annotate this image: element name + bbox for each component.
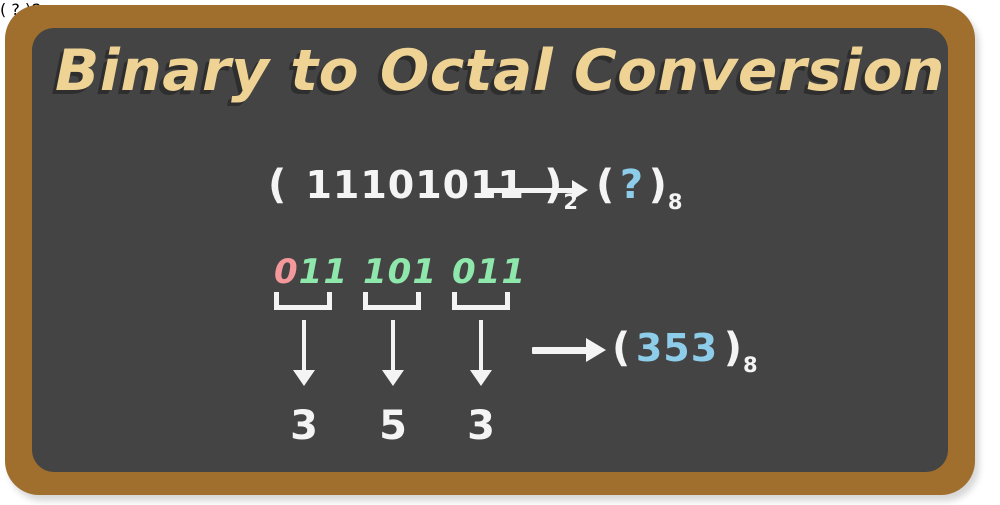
octal-result-expression: ( 353 )8 <box>612 325 757 371</box>
bit-group-2-rest: 101 <box>363 252 437 292</box>
close-paren: ) <box>649 162 667 208</box>
arrow-down-icon-2 <box>382 320 404 388</box>
bit-group-2-digits: 101 <box>363 252 437 292</box>
open-paren: ( <box>268 162 286 208</box>
open-paren: ( <box>596 162 614 208</box>
unknown-placeholder: ? <box>620 162 643 208</box>
bit-group-2: 101 <box>363 252 437 292</box>
arrow-down-icon-1 <box>293 320 315 388</box>
bit-group-1-digits: 011 <box>274 252 348 292</box>
octal-digit-2: 5 <box>373 403 413 449</box>
octal-digit-3: 3 <box>461 403 501 449</box>
bit-group-1: 011 <box>274 252 348 292</box>
bit-group-3-digits: 011 <box>452 252 526 292</box>
underbrace-3 <box>452 292 510 310</box>
octal-result-value: 353 <box>636 326 718 370</box>
arrow-right-icon <box>484 180 588 200</box>
close-paren: ) <box>724 325 742 371</box>
octal-digit-1: 3 <box>284 403 324 449</box>
page-title: Binary to Octal Conversion <box>0 38 1000 104</box>
base-subscript-8: 8 <box>668 190 683 214</box>
bit-group-3: 011 <box>452 252 526 292</box>
bit-group-1-rest: 11 <box>299 252 348 292</box>
bit-group-1-leading-zero: 0 <box>274 252 299 292</box>
bit-group-3-rest: 011 <box>452 252 526 292</box>
open-paren: ( <box>612 325 630 371</box>
unknown-result-expression: ( ? )8 <box>596 162 682 208</box>
underbrace-1 <box>274 292 332 310</box>
underbrace-2 <box>363 292 421 310</box>
base-subscript-8-result: 8 <box>743 353 758 377</box>
arrow-down-icon-3 <box>470 320 492 388</box>
slide-canvas: Binary to Octal Conversion ( ? )8 --> ( … <box>0 0 1000 505</box>
arrow-right-icon-result <box>532 340 606 360</box>
